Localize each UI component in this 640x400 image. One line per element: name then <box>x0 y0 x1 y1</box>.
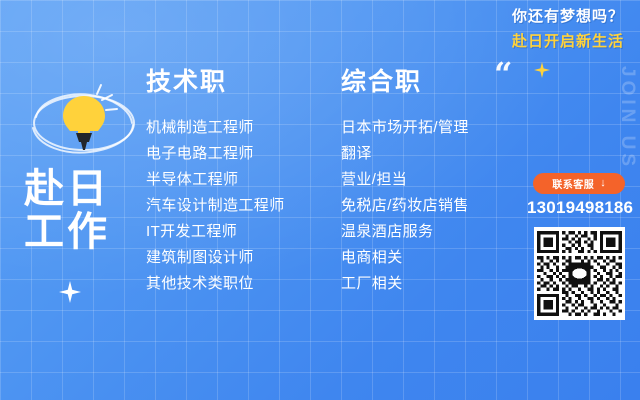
slogan-line-1: 你还有梦想吗？ <box>512 5 624 26</box>
column-general: 综合职 日本市场开拓/管理 翻译 营业/担当 免税店/药妆店销售 温泉酒店服务 … <box>341 62 469 302</box>
job-list-technical: 机械制造工程师 电子电路工程师 半导体工程师 汽车设计制造工程师 IT开发工程师… <box>146 120 285 291</box>
lightbulb-illustration <box>24 76 144 168</box>
job-item[interactable]: IT开发工程师 <box>146 224 285 239</box>
phone-number[interactable]: 13019498186 <box>527 198 631 218</box>
job-item[interactable]: 机械制造工程师 <box>146 120 285 135</box>
poster-canvas: 你还有梦想吗？ 赴日开启新生活 “ JOIN US 赴日 工作 <box>0 0 640 400</box>
column-heading-technical: 技术职 <box>146 62 285 98</box>
job-item[interactable]: 翻译 <box>341 146 469 161</box>
slogan-line-2: 赴日开启新生活 <box>512 30 624 51</box>
job-item[interactable]: 日本市场开拓/管理 <box>341 120 469 135</box>
job-item[interactable]: 半导体工程师 <box>146 172 285 187</box>
sparkle-star-icon <box>534 62 550 78</box>
job-item[interactable]: 免税店/药妆店销售 <box>341 198 469 213</box>
page-title: 赴日 工作 <box>24 168 110 254</box>
contact-support-label: 联系客服 <box>552 176 594 191</box>
job-list-general: 日本市场开拓/管理 翻译 营业/担当 免税店/药妆店销售 温泉酒店服务 电商相关… <box>341 120 469 291</box>
job-item[interactable]: 营业/担当 <box>341 172 469 187</box>
column-heading-general: 综合职 <box>341 62 469 98</box>
qr-code-image <box>534 227 625 320</box>
contact-support-button[interactable]: 联系客服 ↓ <box>533 173 625 194</box>
job-item[interactable]: 建筑制图设计师 <box>146 250 285 265</box>
job-item[interactable]: 电商相关 <box>341 250 469 265</box>
job-item[interactable]: 电子电路工程师 <box>146 146 285 161</box>
qr-code[interactable] <box>534 227 625 320</box>
job-item[interactable]: 其他技术类职位 <box>146 276 285 291</box>
page-title-line-1: 赴日 <box>24 168 110 211</box>
arrow-down-icon: ↓ <box>600 178 606 189</box>
job-item[interactable]: 温泉酒店服务 <box>341 224 469 239</box>
join-us-watermark: JOIN US <box>616 66 638 170</box>
job-item[interactable]: 工厂相关 <box>341 276 469 291</box>
sparkle-star-icon <box>59 281 81 303</box>
column-technical: 技术职 机械制造工程师 电子电路工程师 半导体工程师 汽车设计制造工程师 IT开… <box>146 62 285 302</box>
page-title-line-2: 工作 <box>24 211 110 254</box>
quote-mark-icon: “ <box>494 58 512 90</box>
job-item[interactable]: 汽车设计制造工程师 <box>146 198 285 213</box>
lightbulb-icon <box>24 76 144 168</box>
